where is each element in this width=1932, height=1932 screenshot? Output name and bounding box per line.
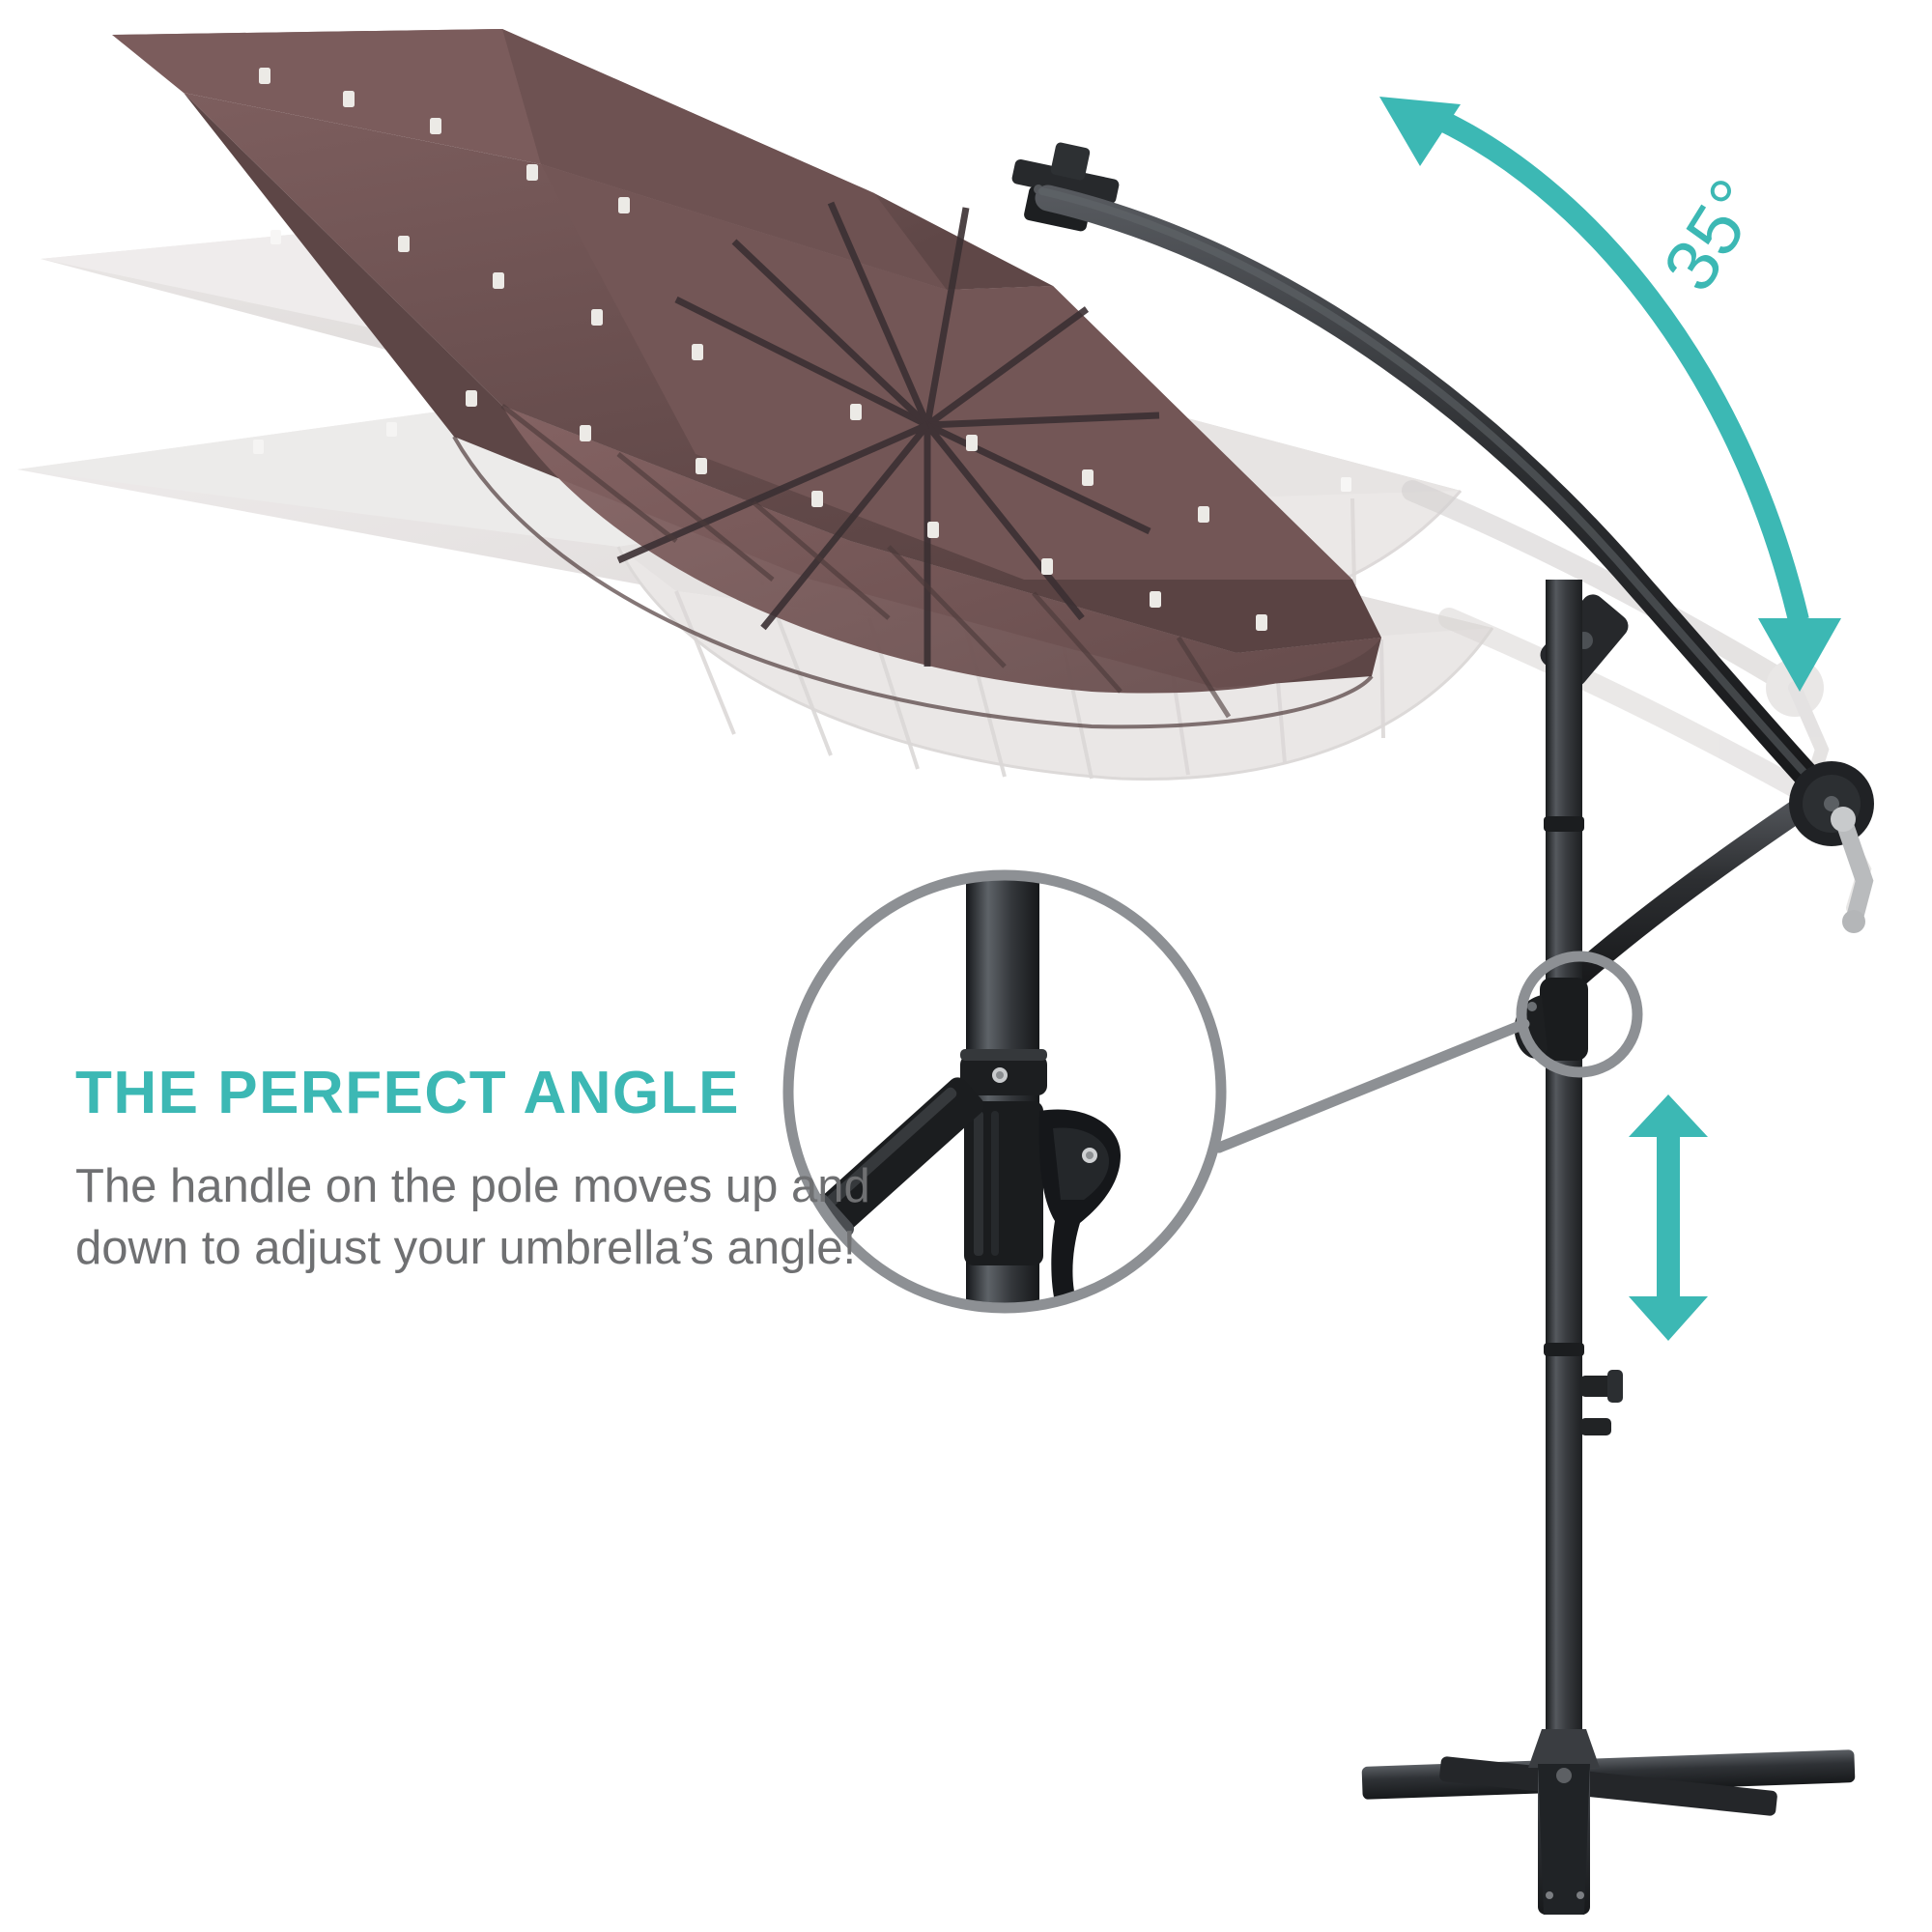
pole-tension-knob[interactable] [1580, 1370, 1623, 1435]
feature-body-text: The handle on the pole moves up and down… [75, 1156, 906, 1279]
height-adjust-arrow [1629, 1094, 1708, 1341]
height-arrow-head-up [1629, 1094, 1708, 1137]
callout-connector [1219, 1024, 1524, 1148]
height-arrow-head-down [1629, 1296, 1708, 1341]
cross-base [1362, 1729, 1856, 1915]
feature-heading: THE PERFECT ANGLE [75, 1063, 906, 1123]
feature-copy-block: THE PERFECT ANGLE The handle on the pole… [75, 1063, 906, 1280]
product-illustration [0, 0, 1932, 1932]
main-pole [1515, 580, 1623, 1777]
crank-handle[interactable] [1789, 761, 1874, 933]
infographic-canvas: 35° THE PERFECT ANGLE The handle on the … [0, 0, 1932, 1932]
